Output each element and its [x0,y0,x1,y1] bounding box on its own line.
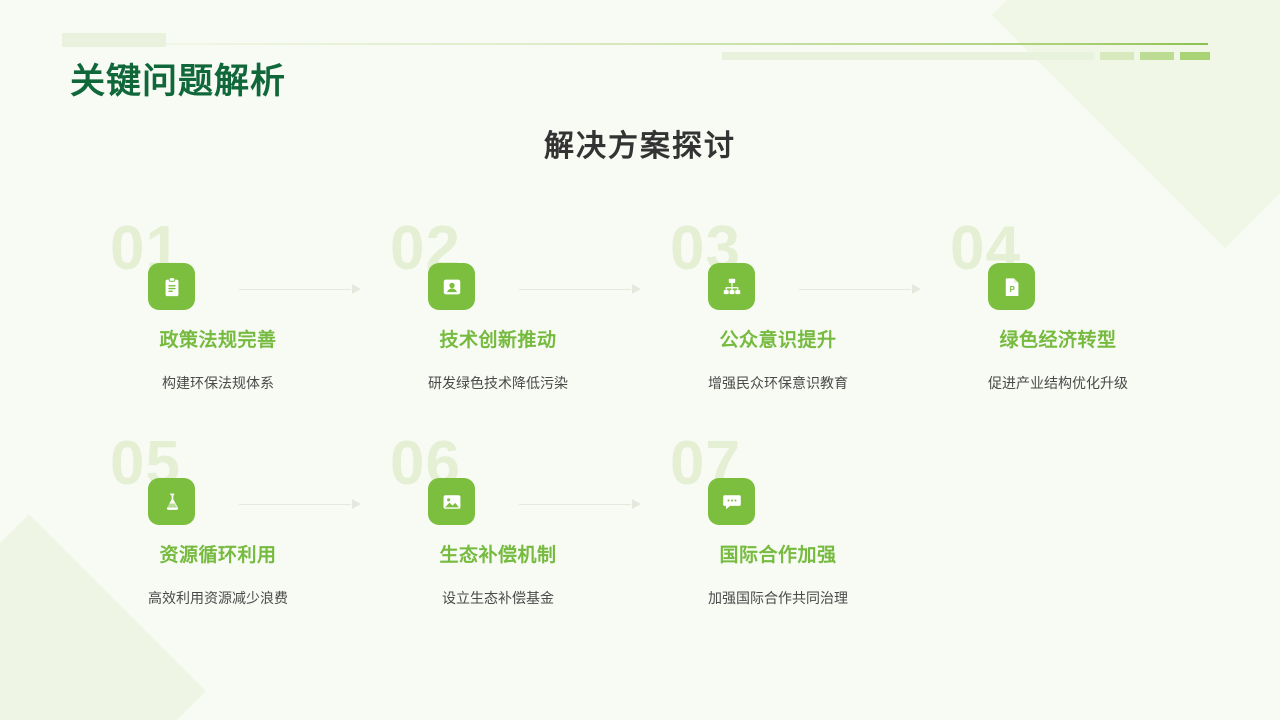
header-dash-bar [722,52,1094,60]
header-rule-line [166,43,1208,45]
arrow-right-icon [799,284,929,295]
arrow-shaft [799,289,911,290]
arrow-shaft [519,289,631,290]
arrow-shaft [519,504,631,505]
header-dash-1 [1100,52,1134,60]
clipboard-icon[interactable] [148,263,195,310]
arrow-head [632,284,641,294]
arrow-head [912,284,921,294]
step-title: 生态补偿机制 [376,543,620,569]
header-dash-2 [1140,52,1174,60]
step-title: 国际合作加强 [656,543,900,569]
step-description: 高效利用资源减少浪费 [96,587,340,609]
document-p-icon[interactable]: P [988,263,1035,310]
arrow-shaft [239,504,351,505]
step-item-05[interactable]: 05资源循环利用高效利用资源减少浪费 [96,443,376,643]
step-title: 技术创新推动 [376,328,620,354]
arrow-head [632,499,641,509]
header-dash-3 [1180,52,1210,60]
step-title: 公众意识提升 [656,328,900,354]
step-description: 加强国际合作共同治理 [656,587,900,609]
slide-canvas: 关键问题解析 解决方案探讨 01政策法规完善构建环保法规体系02技术创新推动研发… [0,0,1280,720]
step-item-03[interactable]: 03公众意识提升增强民众环保意识教育 [656,228,936,428]
step-item-06[interactable]: 06生态补偿机制设立生态补偿基金 [376,443,656,643]
step-title: 资源循环利用 [96,543,340,569]
flask-icon[interactable] [148,478,195,525]
arrow-head [352,284,361,294]
steps-row-1: 01政策法规完善构建环保法规体系02技术创新推动研发绿色技术降低污染03公众意识… [96,228,1186,443]
step-title: 绿色经济转型 [936,328,1180,354]
steps-container: 01政策法规完善构建环保法规体系02技术创新推动研发绿色技术降低污染03公众意识… [96,228,1186,658]
step-item-02[interactable]: 02技术创新推动研发绿色技术降低污染 [376,228,656,428]
corner-decoration-top-right [992,0,1280,248]
org-chart-icon[interactable] [708,263,755,310]
header-accent-block [62,33,166,47]
step-item-01[interactable]: 01政策法规完善构建环保法规体系 [96,228,376,428]
steps-row-2: 05资源循环利用高效利用资源减少浪费06生态补偿机制设立生态补偿基金07国际合作… [96,443,1186,658]
step-description: 研发绿色技术降低污染 [376,372,620,394]
page-title: 关键问题解析 [70,60,286,104]
step-title: 政策法规完善 [96,328,340,354]
chat-bubble-icon[interactable] [708,478,755,525]
step-item-07[interactable]: 07国际合作加强加强国际合作共同治理 [656,443,936,643]
svg-text:P: P [1009,284,1014,293]
arrow-head [352,499,361,509]
step-description: 构建环保法规体系 [96,372,340,394]
step-item-04[interactable]: 04P绿色经济转型促进产业结构优化升级 [936,228,1216,428]
step-description: 增强民众环保意识教育 [656,372,900,394]
arrow-shaft [239,289,351,290]
image-icon[interactable] [428,478,475,525]
arrow-right-icon [239,499,369,510]
section-heading: 解决方案探讨 [0,126,1280,168]
arrow-right-icon [519,284,649,295]
arrow-right-icon [239,284,369,295]
step-description: 促进产业结构优化升级 [936,372,1180,394]
user-card-icon[interactable] [428,263,475,310]
step-description: 设立生态补偿基金 [376,587,620,609]
arrow-right-icon [519,499,649,510]
